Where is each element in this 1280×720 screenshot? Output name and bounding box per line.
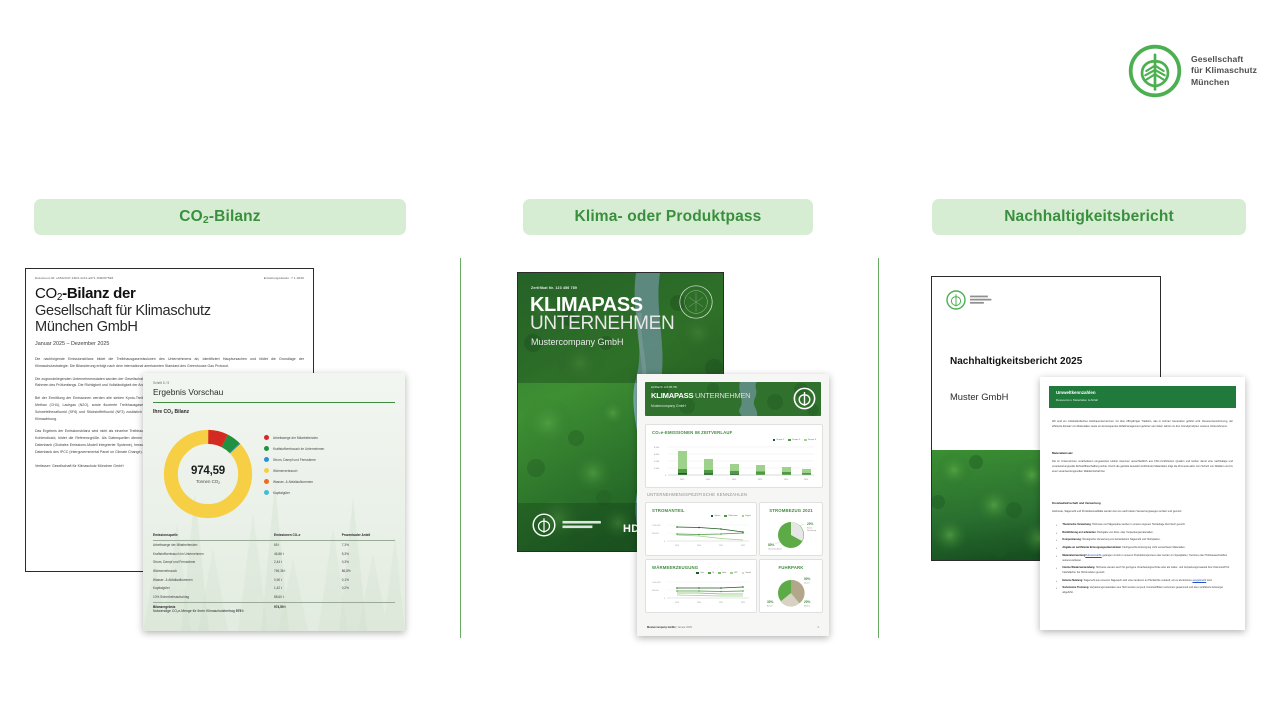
table-row: Kraftstoffverbrauch im Unternehmen 46,86… xyxy=(153,549,395,558)
kpi-line-chart: 1.000.000500.0000 2019202020212022 xyxy=(651,521,751,551)
svg-text:Benzin: Benzin xyxy=(767,606,773,608)
svg-text:2019: 2019 xyxy=(675,545,679,547)
total-emissions-unit: Tonnen CO2 xyxy=(196,479,220,484)
kpi-card-fuhrpark: FUHRPARK 50% Diesel 30% Benzin 20% Elekt… xyxy=(759,559,823,613)
legend-item: Scope 2 xyxy=(788,439,800,441)
table-cell: 88,60 t xyxy=(274,595,342,599)
bullet-icon: • xyxy=(1056,531,1059,536)
legend-item: Öl xyxy=(708,572,714,574)
svg-text:2024: 2024 xyxy=(804,479,809,481)
svg-text:Netzbezug: Netzbezug xyxy=(807,529,816,532)
table-row: Kapitalgüter 1,42 t 0,2% xyxy=(153,584,395,593)
klimapass-inner-page[interactable]: Zertifikat Nr. 123 456 789 KLIMAPASS UNT… xyxy=(637,374,829,636)
svg-text:1.000.000: 1.000.000 xyxy=(652,582,660,584)
legend-color-dot xyxy=(264,446,269,451)
table-cell: 10% Sicherheitsaufschlag xyxy=(153,595,274,599)
banner-subtitle: UNTERNEHMEN xyxy=(695,391,750,400)
legend-label: Arbeitswege der Mitarbeitenden xyxy=(273,436,318,440)
legend-color-dot xyxy=(264,435,269,440)
legend-color-dot xyxy=(264,490,269,495)
legend-color-dot xyxy=(264,468,269,473)
svg-text:2021: 2021 xyxy=(732,479,737,481)
report-company: Muster GmbH xyxy=(950,391,1008,402)
svg-text:4.000: 4.000 xyxy=(654,461,660,463)
brand-logo: Gesellschaft für Klimaschutz München xyxy=(1128,44,1257,98)
banner-title: KLIMAPASS xyxy=(651,391,693,400)
bullet-icon: • xyxy=(1056,538,1059,543)
kpi-title: FUHRPARK xyxy=(760,565,822,570)
document-title-line-3: München GmbH xyxy=(35,319,304,336)
certificate-number: Zertifikat Nr. 123 456 789 xyxy=(531,286,577,290)
result-card-footnote: Notwendige CO₂e-Menge für Ihren Klimasch… xyxy=(153,609,243,613)
document-title: CO2-Bilanz der Gesellschaft für Klimasch… xyxy=(26,280,313,336)
svg-text:Elektro: Elektro xyxy=(804,605,810,608)
klimaschutz-muenchen-logo-icon xyxy=(946,290,966,310)
legend-color-dot xyxy=(264,457,269,462)
legend-label: Strom, Dampf und Fernwärme xyxy=(273,458,316,462)
cover-footer-logo-text xyxy=(562,519,602,532)
inner-page-banner: Zertifikat Nr. 123 456 789 KLIMAPASS UNT… xyxy=(645,382,821,416)
nachhaltigkeitsbericht-inner-page[interactable]: Umweltkennzahlen Ressourcen, Materialien… xyxy=(1040,377,1245,630)
table-cell: Arbeitswege der Mitarbeitenden xyxy=(153,543,274,547)
list-item: • Sortenreine Trennung: Verpackungsmater… xyxy=(1056,586,1233,595)
table-row: Wasser- & Abfallaufkommen 0,90 t 0,1% xyxy=(153,575,395,584)
legend-label: Wasser- & Abfallaufkommen xyxy=(273,480,313,484)
svg-text:6.000: 6.000 xyxy=(654,454,660,456)
chart-legend: Scope 1 Scope 2 Scope 3 xyxy=(773,439,816,441)
svg-text:20%: 20% xyxy=(804,600,811,604)
document-title-line-1: CO2-Bilanz der xyxy=(35,286,304,303)
svg-text:8.000: 8.000 xyxy=(654,447,660,449)
document-id: Dokument-ID: eb54c0d7-16b0-4c31-a071-fb9… xyxy=(35,276,113,280)
list-item-term: Abgabe an zertifizierte Entsorgungsunter… xyxy=(1062,546,1121,549)
emissions-table: Emissionsquelle Emissionen CO₂e Prozentu… xyxy=(153,531,395,611)
table-row: 10% Sicherheitsaufschlag 88,60 t xyxy=(153,593,395,602)
svg-text:2020: 2020 xyxy=(706,479,711,481)
subsection-paragraph: Die im Unternehmen verarbeiteten eingese… xyxy=(1052,459,1233,474)
subsection-heading: Kreislaufwirtschaft und Verwertung xyxy=(1052,501,1101,505)
svg-text:50%: 50% xyxy=(804,577,811,581)
table-cell: 86,8% xyxy=(342,569,395,573)
result-card-inner: Schritt 5 / 5 Ergebnis Vorschau Ihre CO2… xyxy=(143,373,405,631)
list-item-term: Materialverwertung xyxy=(1062,554,1085,557)
bullet-icon: • xyxy=(1056,523,1059,528)
list-item-term: Kompostierung xyxy=(1062,538,1080,541)
legend-item: WP xyxy=(730,572,737,574)
legend-item: Scope 1 xyxy=(773,439,785,441)
subsection-heading: Materialeinsatz xyxy=(1052,451,1073,455)
document-period: Januar 2025 – Dezember 2025 xyxy=(26,336,313,347)
certification-seal-icon xyxy=(678,284,714,320)
table-header-cell: Prozentualer Anteil xyxy=(342,533,395,537)
column-header-nachhaltigkeitsbericht[interactable]: Nachhaltigkeitsbericht xyxy=(932,199,1246,235)
legend-item: Holz xyxy=(718,572,726,574)
list-item-text-2: wird. xyxy=(1206,579,1212,582)
table-total-value: 974,59 t xyxy=(274,605,342,609)
column-header-label: CO2-Bilanz xyxy=(179,208,260,226)
svg-text:2021: 2021 xyxy=(719,545,723,547)
legend-item: Eigen xyxy=(742,515,751,517)
legend-item: Wärmeverbrauch xyxy=(264,468,324,473)
table-header-row: Emissionsquelle Emissionen CO₂e Prozentu… xyxy=(153,531,395,541)
tree-in-circle-logo-icon xyxy=(1128,44,1182,98)
total-emissions-value: 974,59 xyxy=(191,465,225,477)
table-cell: 65 t xyxy=(274,543,342,547)
document-title-line-2: Gesellschaft für Klimaschutz xyxy=(35,303,304,320)
list-item-term: Sortenreine Trennung xyxy=(1062,586,1088,589)
verwertung-bullet-list: • Thermische Verwertung: Holzreste und S… xyxy=(1056,523,1233,599)
svg-text:30%: 30% xyxy=(767,600,774,604)
list-item-term: Thermische Verwertung xyxy=(1062,523,1090,526)
svg-text:2020: 2020 xyxy=(697,602,701,604)
ergebnis-vorschau-card[interactable]: Schritt 5 / 5 Ergebnis Vorschau Ihre CO2… xyxy=(143,373,405,631)
kpi-card-strombezug: STROMBEZUG 2021 20% Strom Netzbezug 80% … xyxy=(759,502,823,556)
kpi-section-label: UNTERNEHMENSSPEZIFISCHE KENNZAHLEN xyxy=(647,492,747,497)
banner-certificate-number: Zertifikat Nr. 123 456 789 xyxy=(651,387,677,389)
svg-text:1.000.000: 1.000.000 xyxy=(652,525,660,527)
svg-text:2022: 2022 xyxy=(741,545,745,547)
section-subtitle: Ressourcen, Materialien & Abfall xyxy=(1056,398,1098,402)
list-item: • MaterialverwertungHolzwerkstoffe gelan… xyxy=(1056,554,1233,563)
table-cell: 0,3% xyxy=(342,560,395,564)
legend-item: Wasser- & Abfallaufkommen xyxy=(264,479,324,484)
list-item: • Thermische Verwertung: Holzreste und S… xyxy=(1056,523,1233,528)
list-item: • Abgabe an zertifizierte Entsorgungsunt… xyxy=(1056,546,1233,551)
list-item: • Externe Nutzung: Sägemehl aus unserem … xyxy=(1056,579,1233,584)
footnote-value: 975 t xyxy=(236,609,244,613)
list-item-text: : Holzreste und Sägespäne werden in unse… xyxy=(1091,523,1186,526)
kpi-legend: Strom Ökostrom Eigen xyxy=(711,515,751,517)
section-title: Umweltkennzahlen xyxy=(1056,390,1096,395)
brand-text: Gesellschaft für Klimaschutz München xyxy=(1191,54,1257,88)
svg-text:2021: 2021 xyxy=(719,602,723,604)
svg-text:Ökostrom Anteil: Ökostrom Anteil xyxy=(768,548,782,551)
legend-label: Wärmeverbrauch xyxy=(273,469,297,473)
emissions-timeline-card: CO₂e-EMISSIONEN IM ZEITVERLAUF Scope 1 S… xyxy=(645,424,823,488)
kpi-line-chart: 1.000.000500.0000 2019202020212022 xyxy=(651,578,751,608)
svg-text:Diesel: Diesel xyxy=(804,583,810,585)
table-row: Strom, Dampf und Fernwärme 2,44 t 0,3% xyxy=(153,558,395,567)
table-cell: Strom, Dampf und Fernwärme xyxy=(153,560,274,564)
legend-item: Gas xyxy=(696,572,704,574)
kpi-card-stromanteil: STROMANTEIL Strom Ökostrom Eigen 1.000.0… xyxy=(645,502,757,556)
svg-text:20%: 20% xyxy=(807,522,814,526)
cover-logo xyxy=(946,290,996,310)
list-item: • Kompostierung: Ökologische Verwertung … xyxy=(1056,538,1233,543)
banner-company: Mustercompany GmbH xyxy=(651,404,686,408)
table-row: Wärmeverbrauch 769,36 t 86,8% xyxy=(153,567,395,576)
legend-label: Kapitalgüter xyxy=(273,491,290,495)
kpi-title: STROMBEZUG 2021 xyxy=(760,508,822,513)
table-cell: 2,44 t xyxy=(274,560,342,564)
result-card-heading: Ergebnis Vorschau xyxy=(153,387,223,397)
document-paragraph: Die nachfolgende Emissionsbilanz bildet … xyxy=(35,356,304,370)
table-cell: Wasser- & Abfallaufkommen xyxy=(153,578,274,582)
donut-legend: Arbeitswege der Mitarbeitenden Kraftstof… xyxy=(264,435,324,502)
legend-item: Strom, Dampf und Fernwärme xyxy=(264,457,324,462)
section-header-bar: Umweltkennzahlen Ressourcen, Materialien… xyxy=(1049,386,1236,408)
svg-text:0: 0 xyxy=(664,598,665,600)
document-meta-row: Dokument-ID: eb54c0d7-16b0-4c31-a071-fb9… xyxy=(26,269,313,280)
legend-item: Scope 3 xyxy=(804,439,816,441)
inner-page-number: 2 xyxy=(818,626,819,629)
list-item-term: Rückführung an Lieferanten xyxy=(1062,531,1095,534)
brand-line-1: Gesellschaft xyxy=(1191,54,1257,65)
kpi-title: STROMANTEIL xyxy=(652,508,685,513)
footnote-text: Notwendige CO₂e-Menge für Ihren Klimasch… xyxy=(153,609,236,613)
table-cell: 0,90 t xyxy=(274,578,342,582)
legend-item: Kraftstoffverbrauch im Unternehmen xyxy=(264,446,324,451)
klimapass-company: Mustercompany GmbH xyxy=(531,337,624,347)
emissions-bar-chart: 8.0006.000 4.0002.0000 201920202021 2022… xyxy=(652,445,816,483)
list-item-term: Interne Wiederverwendung xyxy=(1062,566,1094,569)
brand-line-2: für Klimaschutz xyxy=(1191,65,1257,76)
legend-item: Kapitalgüter xyxy=(264,490,324,495)
footer-company: Mustercompany GmbH xyxy=(647,626,675,629)
kpi-pie-chart: 20% Strom Netzbezug 80% Ökostrom Anteil xyxy=(766,516,816,552)
table-cell: 1,42 t xyxy=(274,586,342,590)
bullet-icon: • xyxy=(1056,579,1059,584)
footer-date: | Januar 2025 xyxy=(675,626,692,629)
table-cell: 7,3% xyxy=(342,543,395,547)
table-header-cell: Emissionsquelle xyxy=(153,533,274,537)
kpi-pie-chart: 50% Diesel 30% Benzin 20% Elektro xyxy=(766,573,816,609)
table-cell: Kraftstoffverbrauch im Unternehmen xyxy=(153,552,274,556)
kpi-title: WÄRMEERZEUGUNG xyxy=(652,565,698,570)
kpi-legend: Gas Öl Holz WP Sonst xyxy=(696,572,751,574)
svg-text:2019: 2019 xyxy=(680,479,685,481)
legend-item: Sonst xyxy=(742,572,751,574)
legend-color-dot xyxy=(264,479,269,484)
document-created-date: Erstellungsdatum: 7.1.2026 xyxy=(264,276,304,280)
table-cell: 769,36 t xyxy=(274,569,342,573)
svg-text:2020: 2020 xyxy=(697,545,701,547)
list-item-link[interactable]: ausgebracht xyxy=(1192,579,1206,582)
list-item: • Interne Wiederverwendung: Holzreste we… xyxy=(1056,566,1233,575)
slide-canvas: Gesellschaft für Klimaschutz München CO2… xyxy=(0,0,1280,720)
table-cell: Kapitalgüter xyxy=(153,586,274,590)
wizard-step-label: Schritt 5 / 5 xyxy=(153,381,169,385)
bullet-icon: • xyxy=(1056,554,1059,563)
bullet-icon: • xyxy=(1056,546,1059,551)
table-cell: Wärmeverbrauch xyxy=(153,569,274,573)
legend-item: Ökostrom xyxy=(724,515,737,517)
list-item: • Rückführung an Lieferanten: Rückgabe v… xyxy=(1056,531,1233,536)
list-item-text: : Sägemehl aus unserem Sägewerk wird unt… xyxy=(1082,579,1192,582)
list-item-link[interactable]: Holzwerkstoffe xyxy=(1085,554,1101,557)
kpi-card-waermeerzeugung: WÄRMEERZEUGUNG Gas Öl Holz WP Sonst 1.00… xyxy=(645,559,757,613)
table-cell: 46,86 t xyxy=(274,552,342,556)
list-item-text: : Fachgerechte Entsorgung nicht verwertb… xyxy=(1121,546,1185,549)
svg-text:2022: 2022 xyxy=(758,479,763,481)
table-header-cell: Emissionen CO₂e xyxy=(274,533,342,537)
svg-text:2022: 2022 xyxy=(741,602,745,604)
svg-text:80%: 80% xyxy=(768,543,775,547)
svg-text:2023: 2023 xyxy=(784,479,789,481)
donut-center-value: 974,59 Tonnen CO2 xyxy=(159,425,257,523)
svg-text:500.000: 500.000 xyxy=(652,590,659,592)
column-header-co2-bilanz[interactable]: CO2-Bilanz xyxy=(34,199,406,235)
subsection-paragraph: Holzreste, Sägemehl und Produktionsabfäl… xyxy=(1052,509,1233,514)
result-card-rule xyxy=(153,402,395,403)
legend-item: Arbeitswege der Mitarbeitenden xyxy=(264,435,324,440)
legend-item: Strom xyxy=(711,515,721,517)
klimaschutz-muenchen-logo-icon xyxy=(793,387,816,410)
bullet-icon: • xyxy=(1056,586,1059,595)
column-divider-1 xyxy=(460,258,461,638)
table-row: Arbeitswege der Mitarbeitenden 65 t 7,3% xyxy=(153,541,395,550)
emissions-timeline-title: CO₂e-EMISSIONEN IM ZEITVERLAUF xyxy=(652,430,732,435)
result-card-subheading: Ihre CO2 Bilanz xyxy=(153,409,189,415)
klimaschutz-muenchen-logo-icon xyxy=(532,513,556,537)
column-header-klimapass[interactable]: Klima- oder Produktpass xyxy=(523,199,813,235)
inner-page-footer-left: Mustercompany GmbH | Januar 2025 xyxy=(647,626,692,629)
report-title: Nachhaltigkeitsbericht 2025 xyxy=(950,356,1082,367)
svg-text:500.000: 500.000 xyxy=(652,533,659,535)
list-item-text: : Rückgabe von Rest- oder Verpackungsmat… xyxy=(1096,531,1154,534)
table-cell: 0,2% xyxy=(342,586,395,590)
brand-line-3: München xyxy=(1191,77,1257,88)
column-divider-2 xyxy=(878,258,879,638)
table-cell xyxy=(342,595,395,599)
legend-label: Kraftstoffverbrauch im Unternehmen xyxy=(273,447,324,451)
svg-text:2019: 2019 xyxy=(675,602,679,604)
klimapass-subtitle: UNTERNEHMEN xyxy=(530,313,674,335)
svg-text:0: 0 xyxy=(665,475,667,477)
bullet-icon: • xyxy=(1056,566,1059,575)
list-item-term: Externe Nutzung xyxy=(1062,579,1082,582)
cover-footer-logo xyxy=(532,513,602,537)
table-cell: 5,3% xyxy=(342,552,395,556)
svg-text:2.000: 2.000 xyxy=(654,468,660,470)
table-cell: 0,1% xyxy=(342,578,395,582)
intro-paragraph: Wir sind ein mittelständisches Holzbauun… xyxy=(1052,419,1233,429)
list-item-text: : Ökologische Verwertung von behandeltem… xyxy=(1081,538,1161,541)
cover-logo-text xyxy=(970,295,996,306)
svg-text:0: 0 xyxy=(664,541,665,543)
